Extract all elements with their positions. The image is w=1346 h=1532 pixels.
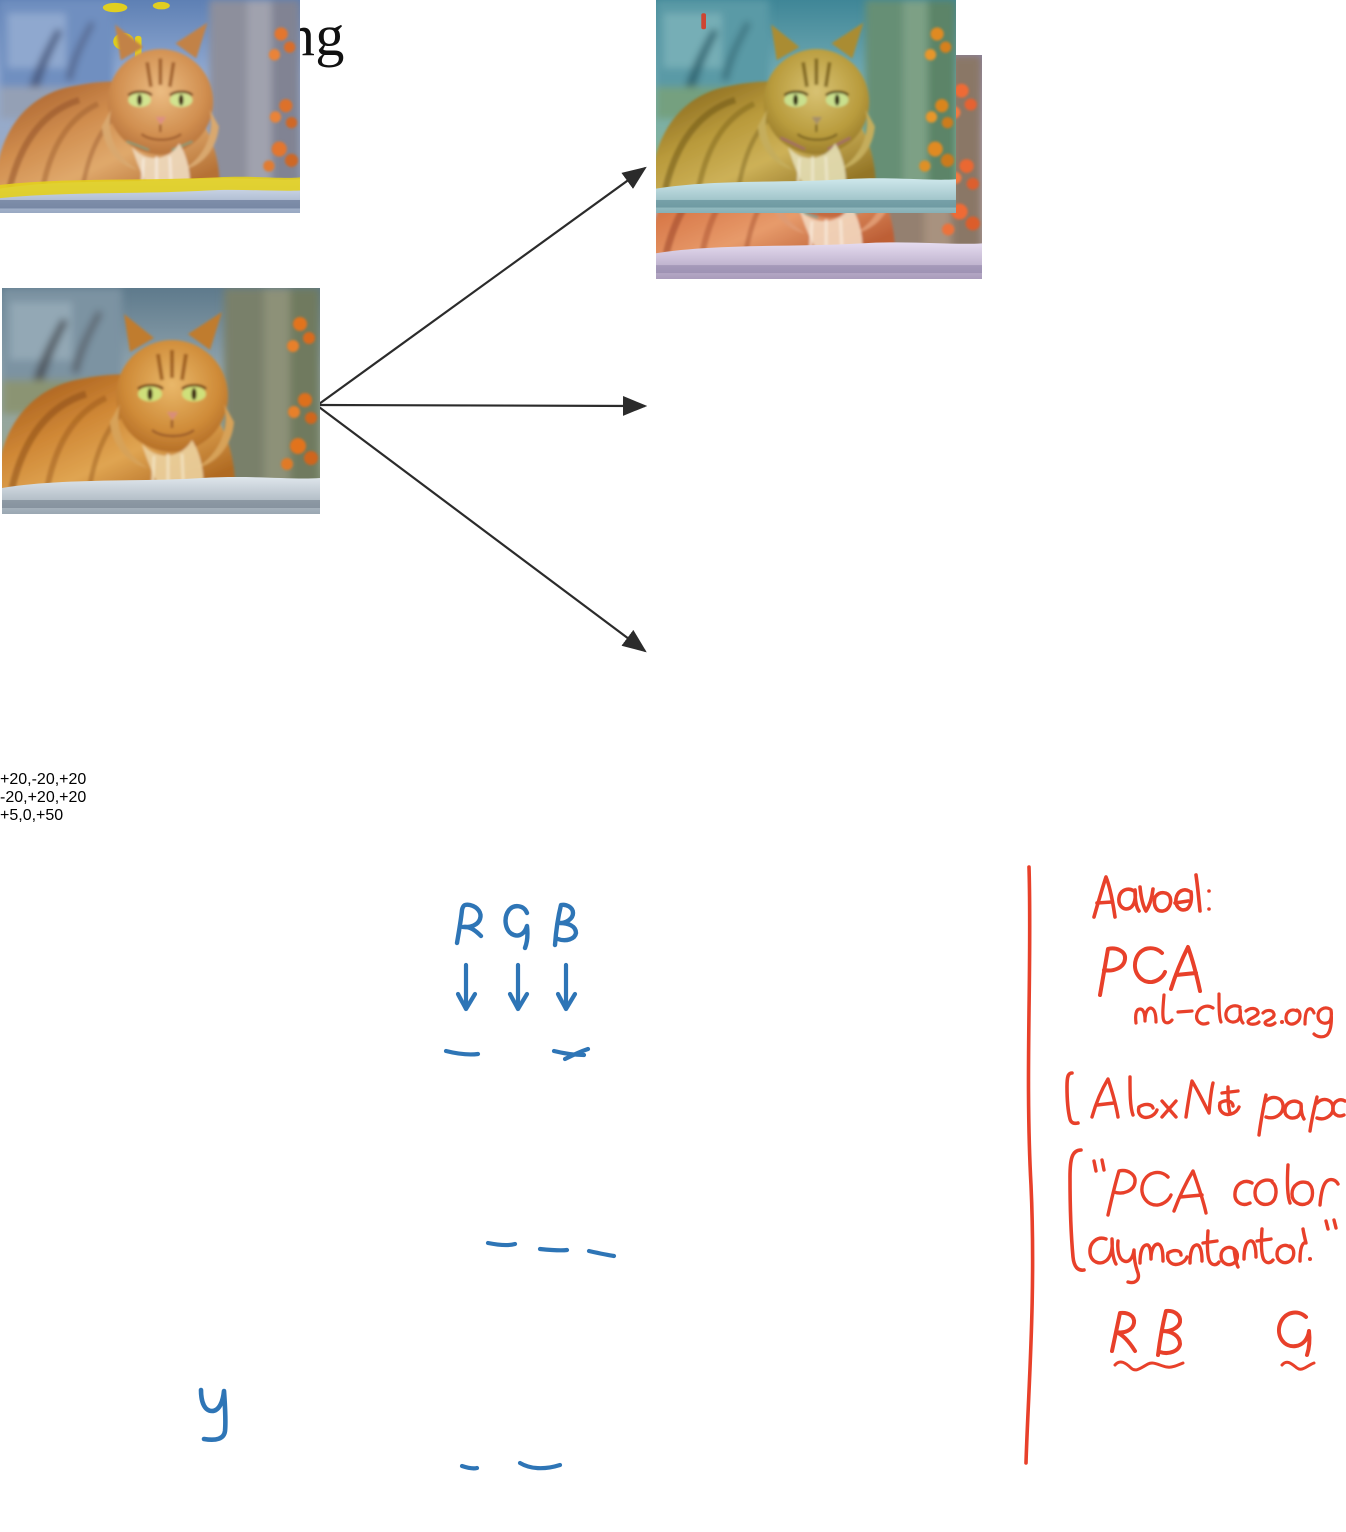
channel-arrow-g (510, 965, 527, 1009)
handwritten-ml-class-org (1136, 994, 1332, 1037)
ink-annotation-layer (0, 825, 1346, 1532)
handwritten-channel-b (555, 905, 576, 945)
rb-squiggle-underline (1115, 1362, 1183, 1370)
color-shifted-cat-photo-2[interactable] (656, 0, 956, 213)
shift-label-variant-1: +20,-20,+20 (0, 771, 1346, 789)
pca-color-bracket (1070, 1150, 1084, 1270)
slide-canvas: Color shifting (0, 0, 1346, 766)
handwritten-augmentation (1090, 1220, 1336, 1283)
handwritten-pca (1100, 947, 1200, 995)
ink-underline-2a (488, 1243, 515, 1245)
handwritten-rb (1112, 1311, 1180, 1355)
alexnet-bracket (1067, 1073, 1078, 1123)
handwritten-channel-r (457, 905, 481, 943)
ink-underline-3a (462, 1466, 477, 1468)
ink-underline-1a (446, 1051, 478, 1054)
color-shifted-cat-photo-3[interactable] (0, 0, 300, 213)
g-squiggle-underline (1282, 1362, 1314, 1369)
mapping-arrow-bottom (319, 407, 645, 651)
handwritten-alexnet-paper (1092, 1077, 1345, 1135)
original-cat-photo[interactable] (2, 288, 320, 514)
handwritten-advanced (1094, 875, 1211, 917)
ink-underline-2b (540, 1249, 567, 1250)
channel-arrow-r (458, 965, 475, 1009)
ink-underline-3b (520, 1463, 560, 1468)
mapping-arrow-top (319, 168, 645, 404)
red-divider-line (1026, 867, 1033, 1463)
handwritten-label-y (201, 1390, 225, 1440)
ink-underline-2c (589, 1251, 614, 1256)
handwritten-g (1279, 1313, 1309, 1355)
handwritten-pca-color (1094, 1160, 1338, 1215)
mapping-arrow-middle (319, 405, 645, 406)
shift-label-variant-3: +5,0,+50 (0, 807, 1346, 825)
channel-arrow-b (558, 965, 575, 1009)
shift-label-variant-2: -20,+20,+20 (0, 789, 1346, 807)
handwritten-channel-g (506, 906, 528, 948)
